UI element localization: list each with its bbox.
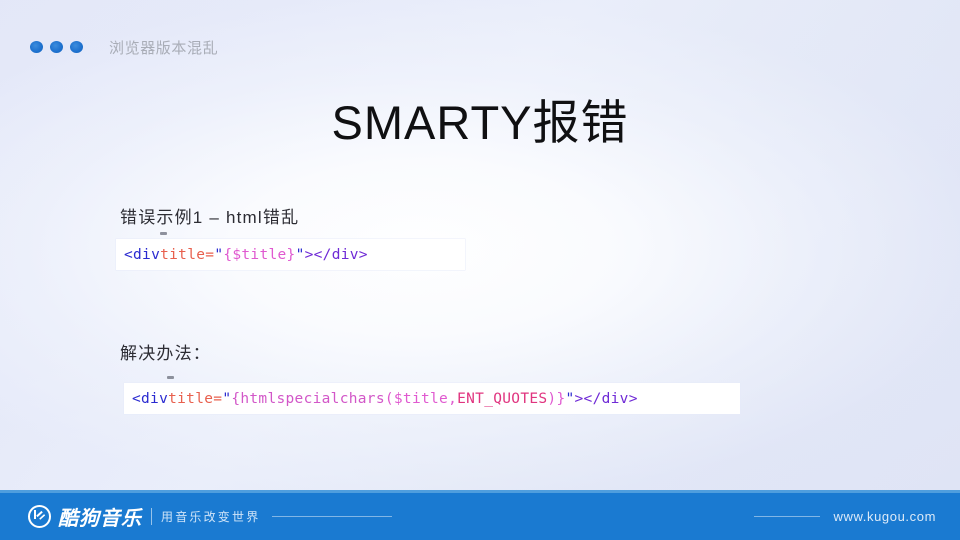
header-label: 浏览器版本混乱 [109, 37, 218, 58]
code-block-solution: <div title="{htmlspecialchars($title, EN… [124, 383, 740, 414]
section-label-error-example: 错误示例1 – html错乱 [120, 203, 299, 228]
footer-url: www.kugou.com [834, 509, 936, 524]
brand-tagline: 用音乐改变世界 [161, 508, 260, 525]
presentation-slide: 浏览器版本混乱 SMARTY报错 错误示例1 – html错乱 <div tit… [0, 0, 960, 540]
code-token-quote: " [296, 247, 305, 263]
dot-icon [30, 41, 43, 53]
page-title: SMARTY报错 [0, 96, 960, 150]
dot-icon [70, 41, 83, 53]
code-token-var: )} [547, 391, 565, 407]
code-token-tag: <div [124, 247, 160, 263]
section-label-solution: 解决办法： [120, 339, 211, 364]
footer-rule-left [272, 516, 392, 517]
tick-artifact [167, 376, 174, 379]
brand-lockup: 酷狗音乐 用音乐改变世界 [28, 502, 392, 531]
tick-artifact [160, 232, 167, 235]
code-token-tag: <div [132, 391, 168, 407]
brand-divider [151, 508, 152, 525]
code-token-var: {$title} [223, 247, 295, 263]
code-token-var: ($title, [385, 391, 457, 407]
footer-right-group: www.kugou.com [754, 509, 936, 524]
kugou-logo-icon [28, 505, 51, 528]
slide-footer: 酷狗音乐 用音乐改变世界 www.kugou.com [0, 493, 960, 540]
code-token-quote: " [565, 391, 574, 407]
code-token-quote: " [214, 247, 223, 263]
code-token-quote: " [222, 391, 231, 407]
dot-icon [50, 41, 63, 53]
code-token-close: ></div> [575, 391, 638, 407]
brand-name: 酷狗音乐 [58, 502, 142, 531]
decorative-dots [30, 41, 83, 53]
code-token-attr: title= [168, 391, 222, 407]
code-token-const: ENT_QUOTES [457, 391, 547, 407]
code-token-close: ></div> [305, 247, 368, 263]
code-block-error-example: <div title="{$title}"></div> [116, 239, 465, 270]
code-token-attr: title= [160, 247, 214, 263]
slide-header: 浏览器版本混乱 [30, 34, 218, 60]
code-token-func: {htmlspecialchars [231, 391, 385, 407]
footer-rule-right [754, 516, 820, 517]
